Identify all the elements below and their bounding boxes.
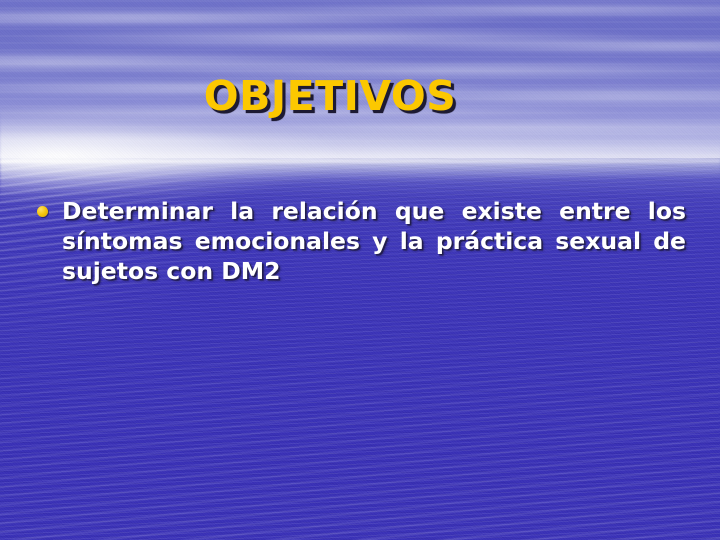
bullet-item-text: Determinar la relación que existe entre … [62, 196, 686, 286]
slide-content: OBJETIVOS Determinar la relación que exi… [0, 0, 720, 540]
slide-body: Determinar la relación que existe entre … [34, 196, 686, 286]
bullet-dot-icon [37, 206, 48, 217]
presentation-slide: OBJETIVOS Determinar la relación que exi… [0, 0, 720, 540]
bullet-list-item: Determinar la relación que existe entre … [34, 196, 686, 286]
slide-title: OBJETIVOS [0, 72, 660, 120]
